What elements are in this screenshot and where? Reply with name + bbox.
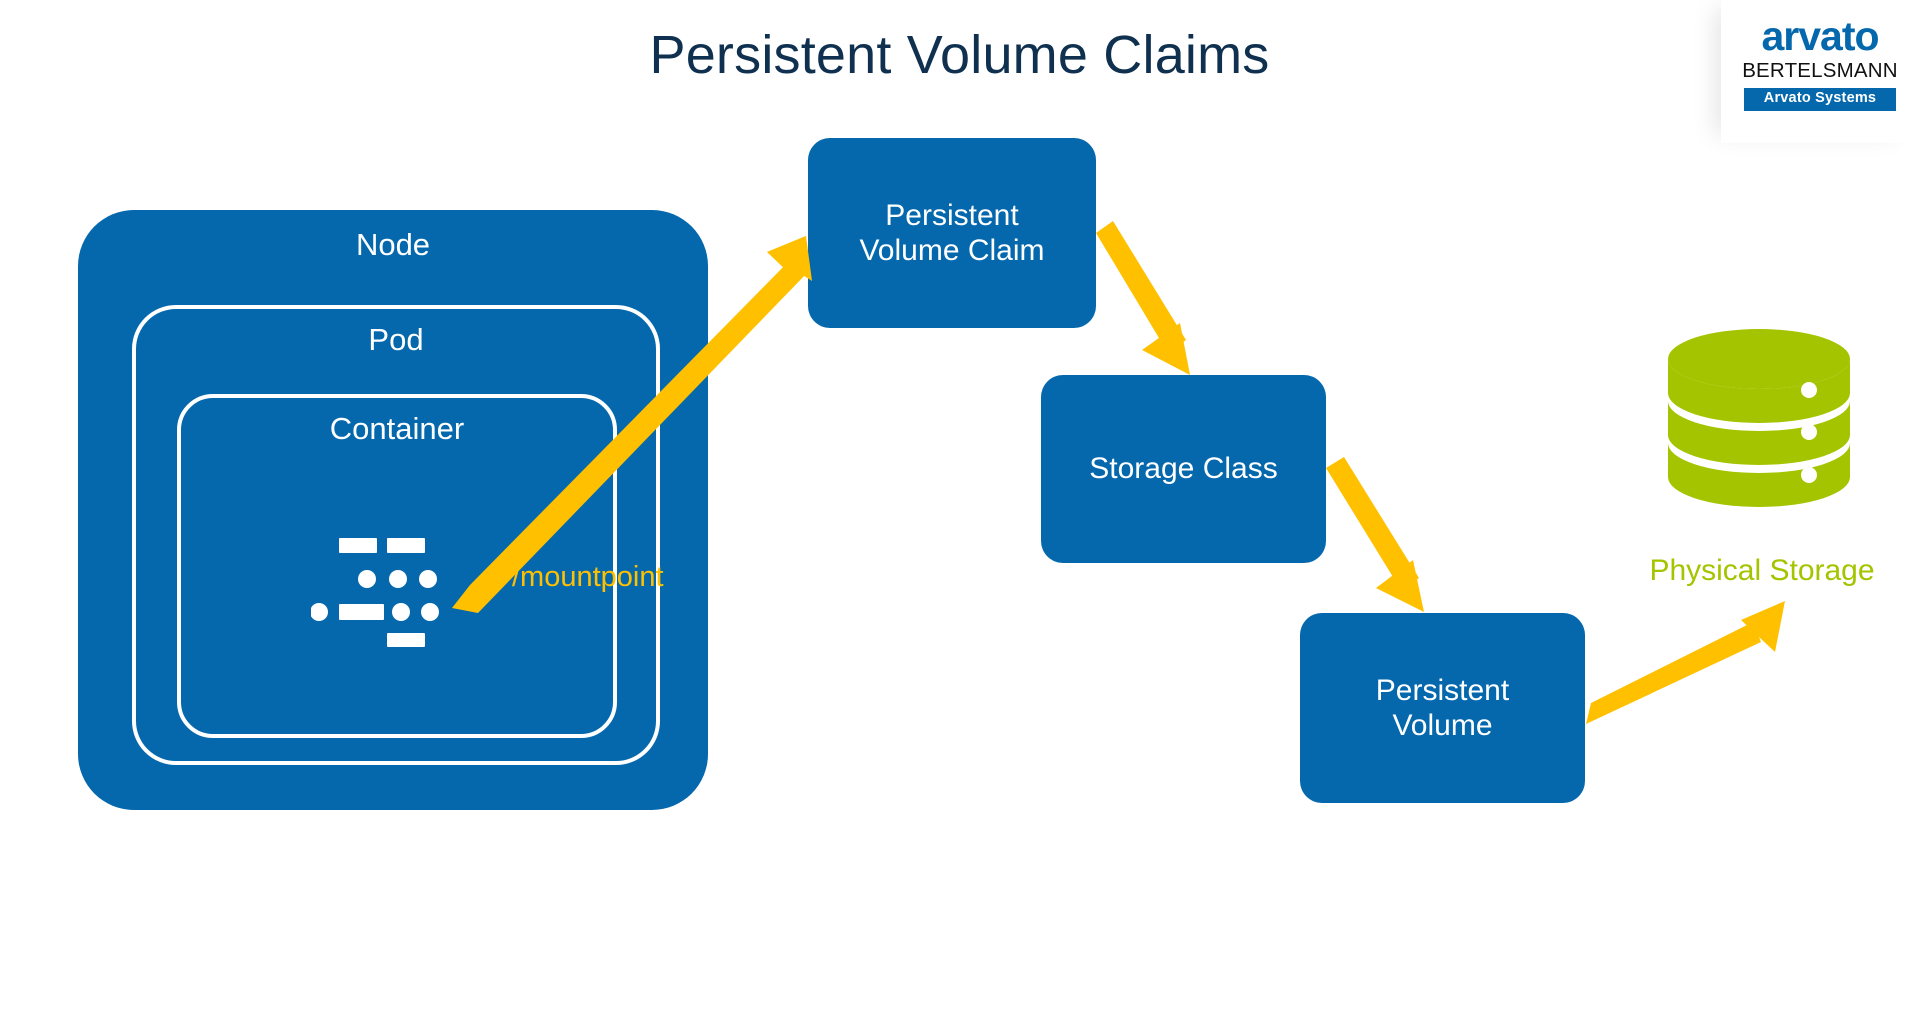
pod-label: Pod: [368, 321, 423, 358]
logo-wordmark: arvato: [1761, 16, 1878, 57]
pv-label-line2: Volume: [1376, 708, 1509, 743]
storage-class-box: Storage Class: [1041, 375, 1326, 563]
logo-unit-bar: Arvato Systems: [1744, 88, 1896, 111]
page-title: Persistent Volume Claims: [0, 26, 1919, 85]
pv-label-line1: Persistent: [1376, 673, 1509, 708]
slide-canvas: Persistent Volume Claims arvato BERTELSM…: [0, 0, 1919, 1013]
code-binary-icon: [311, 536, 451, 648]
persistent-volume-claim-box: Persistent Volume Claim: [808, 138, 1096, 328]
arrow-pv-to-physical-storage: [1586, 601, 1785, 724]
pvc-label-line2: Volume Claim: [859, 233, 1044, 268]
brand-logo: arvato BERTELSMANN Arvato Systems: [1721, 0, 1919, 143]
storage-class-label: Storage Class: [1089, 451, 1277, 486]
arrow-storage-class-to-pv: [1326, 457, 1424, 612]
node-label: Node: [356, 226, 430, 263]
database-cylinder-icon: [1668, 325, 1850, 550]
arrow-pvc-to-storage-class: [1096, 221, 1190, 375]
logo-parent-brand: BERTELSMANN: [1742, 59, 1898, 83]
mountpoint-label: /mountpoint: [512, 562, 664, 594]
container-label: Container: [330, 410, 464, 447]
physical-storage-label: Physical Storage: [1637, 554, 1887, 587]
pvc-label-line1: Persistent: [859, 198, 1044, 233]
persistent-volume-box: Persistent Volume: [1300, 613, 1585, 803]
